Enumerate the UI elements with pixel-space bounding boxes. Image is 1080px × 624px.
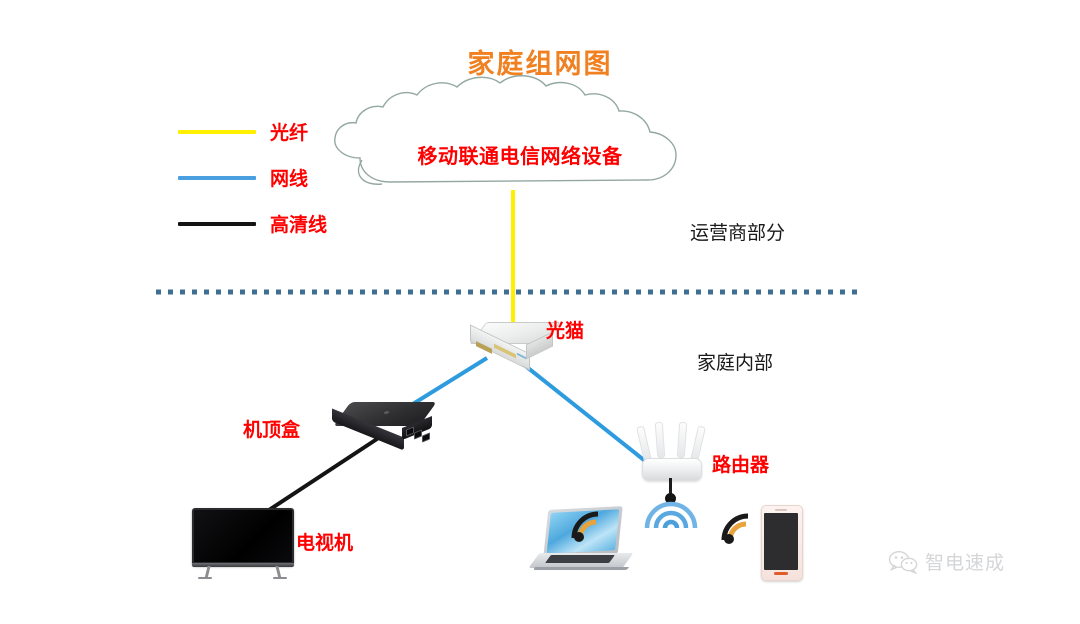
- line-swatch-fiber: [178, 130, 256, 134]
- router-label: 路由器: [712, 450, 769, 477]
- wechat-icon: [888, 550, 918, 574]
- television-label: 电视机: [296, 528, 353, 555]
- set-top-box-icon: [332, 402, 436, 450]
- legend-item-hdmi: 高清线: [178, 214, 358, 260]
- home-section-label: 家庭内部: [697, 348, 773, 375]
- router-icon: [634, 420, 708, 490]
- legend-label-hdmi: 高清线: [270, 210, 327, 237]
- cloud-label: 移动联通电信网络设备: [330, 140, 710, 169]
- watermark-text: 智电速成: [925, 548, 1005, 575]
- cloud-node: 移动联通电信网络设备: [330, 108, 710, 208]
- line-swatch-ethernet: [178, 176, 256, 180]
- wifi-signal-icon-phone: [718, 512, 752, 546]
- smartphone-icon: [761, 505, 801, 579]
- set-top-box-label: 机顶盒: [243, 415, 300, 442]
- network-diagram-canvas: 家庭组网图 光纤 网线 高清线: [0, 0, 1080, 624]
- watermark: 智电速成: [888, 548, 1005, 575]
- wifi-signal-icon-laptop: [568, 510, 602, 544]
- wifi-signal-icon-router: [641, 496, 701, 532]
- operator-section-label: 运营商部分: [690, 218, 785, 245]
- optical-modem-icon: [470, 322, 554, 362]
- television-icon: [192, 508, 294, 580]
- legend-label-ethernet: 网线: [270, 164, 308, 191]
- modem-label: 光猫: [546, 316, 584, 343]
- legend-label-fiber: 光纤: [270, 118, 308, 145]
- line-swatch-hdmi: [178, 222, 256, 226]
